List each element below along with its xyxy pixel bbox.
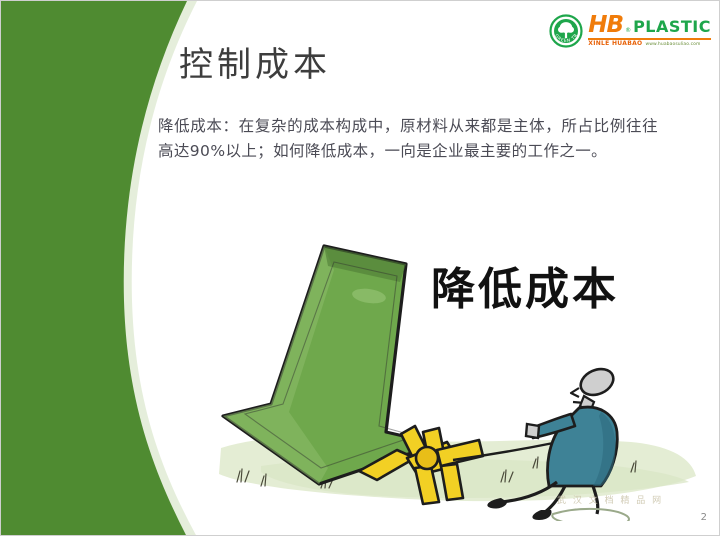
registered-icon: ® [625, 28, 631, 34]
logo-website: www.huabaosuliao.com [645, 43, 700, 48]
page-number: 2 [701, 512, 707, 523]
logo-wordmark: HB ® PLASTIC XINLE HUABAO www.huabaosuli… [588, 14, 711, 48]
logo-company-row: XINLE HUABAO www.huabaosuliao.com [588, 41, 711, 48]
logo-hb-mark: HB [588, 14, 623, 37]
illustration-caption: 降低成本 [431, 253, 619, 317]
logo-brand-row: HB ® PLASTIC [588, 14, 711, 37]
watermark-text: 武 汉 文 档 精 品 网 [557, 493, 663, 506]
page-title: 控制成本 [179, 37, 331, 86]
logo-plastic-word: PLASTIC [633, 19, 711, 35]
svg-text:GREEN TREE: GREEN TREE [549, 14, 579, 44]
green-tree-circle-emblem: GREEN TREE [549, 14, 583, 48]
slide-canvas: GREEN TREE HB ® PLASTIC XINLE HUABAO www… [0, 0, 720, 536]
body-paragraph: 降低成本：在复杂的成本构成中，原材料从来都是主体，所占比例往往高达90%以上；如… [158, 114, 658, 164]
logo-company-name: XINLE HUABAO [588, 41, 642, 47]
company-logo: GREEN TREE HB ® PLASTIC XINLE HUABAO www… [549, 9, 711, 53]
emblem-arc-text: GREEN TREE [549, 14, 579, 44]
